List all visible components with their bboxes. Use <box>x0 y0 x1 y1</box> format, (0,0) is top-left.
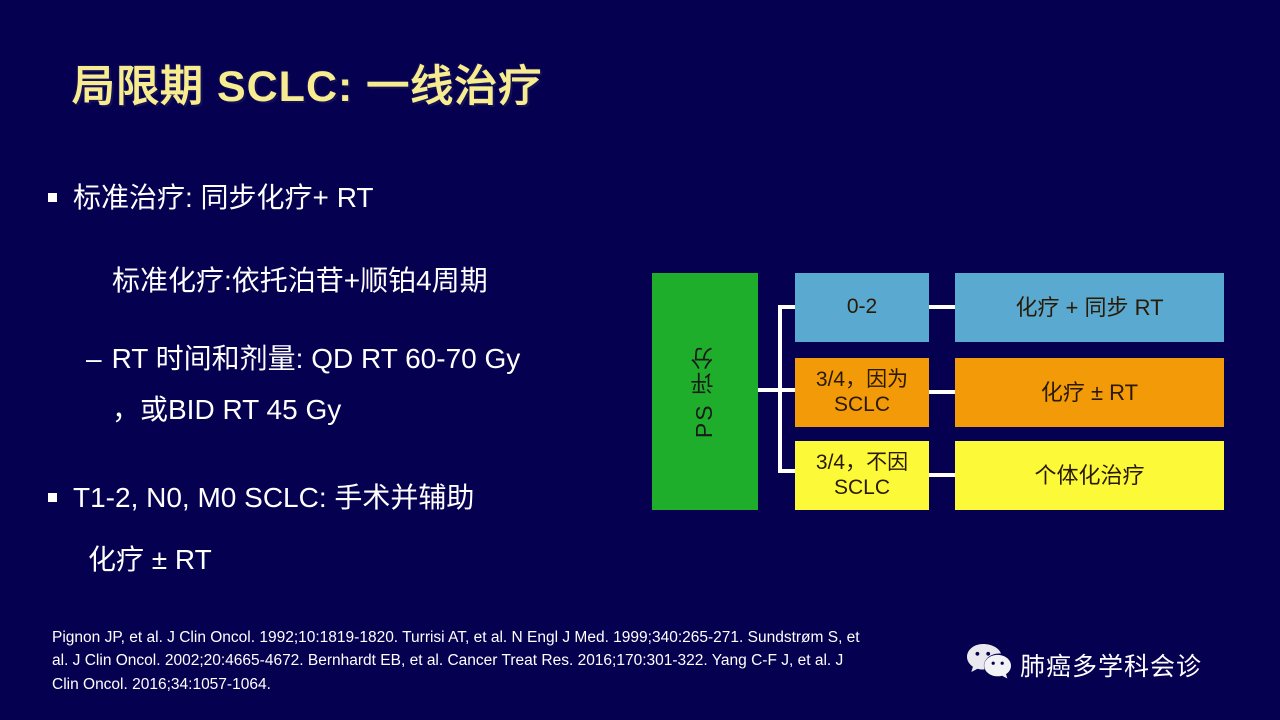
diagram-node-treatment-chemo-pm-rt[interactable]: 化疗 ± RT <box>955 358 1224 427</box>
wechat-icon <box>966 642 1012 687</box>
condition-line-1: 3/4，因为 <box>816 368 908 391</box>
connector-row-2 <box>929 390 956 394</box>
wechat-account-name: 肺癌多学科会诊 <box>1020 647 1202 683</box>
bullet-item-2-label: T1-2, N0, M0 SCLC: 手术并辅助 <box>73 482 474 513</box>
diagram-node-ps-score-label: PS 评分 <box>691 345 718 438</box>
slide-canvas: 局限期 SCLC: 一线治疗 标准治疗: 同步化疗+ RT 标准化疗:依托泊苷+… <box>0 0 1280 720</box>
connector-vertical-spine <box>778 305 782 473</box>
diagram-node-ps-score[interactable]: PS 评分 <box>652 273 758 510</box>
condition-line-2: SCLC <box>834 476 890 499</box>
connector-row-3 <box>929 473 956 477</box>
diagram-node-treatment-individualized[interactable]: 个体化治疗 <box>955 441 1224 510</box>
sub-bullet-1: –RT 时间和剂量: QD RT 60-70 Gy <box>86 341 520 376</box>
sub-bullet-1-label: RT 时间和剂量: QD RT 60-70 Gy <box>112 343 521 374</box>
diagram-node-condition-34-sclc-label: 3/4，因为 SCLC <box>816 368 908 418</box>
bullet-item-2: T1-2, N0, M0 SCLC: 手术并辅助 <box>48 480 474 515</box>
diagram-node-condition-0-2[interactable]: 0-2 <box>795 273 929 342</box>
sub-bullet-1-continuation: ，或BID RT 45 Gy <box>112 392 341 427</box>
connector-root-stem <box>758 388 782 392</box>
diagram-node-condition-34-not-sclc[interactable]: 3/4，不因 SCLC <box>795 441 929 510</box>
diagram-node-treatment-1-label: 化疗 + 同步 RT <box>1015 295 1163 321</box>
bullet-square-icon <box>48 493 57 502</box>
dash-marker-icon: – <box>86 343 102 374</box>
bullet-item-1: 标准治疗: 同步化疗+ RT <box>48 180 374 215</box>
diagram-node-treatment-chemo-concurrent-rt[interactable]: 化疗 + 同步 RT <box>955 273 1224 342</box>
diagram-node-treatment-3-label: 个体化治疗 <box>1034 463 1144 489</box>
bullet-item-1-label: 标准治疗: 同步化疗+ RT <box>73 182 374 213</box>
bullet-item-2-continuation: 化疗 ± RT <box>88 542 212 577</box>
wechat-account-footer: 肺癌多学科会诊 <box>966 642 1202 687</box>
bullet-square-icon <box>48 193 57 202</box>
diagram-node-treatment-2-label: 化疗 ± RT <box>1041 380 1138 406</box>
condition-line-1: 3/4，不因 <box>816 451 908 474</box>
citation-text: Pignon JP, et al. J Clin Oncol. 1992;10:… <box>52 626 862 696</box>
condition-line-2: SCLC <box>834 393 890 416</box>
diagram-node-condition-34-sclc[interactable]: 3/4，因为 SCLC <box>795 358 929 427</box>
bullet-item-1-subline: 标准化疗:依托泊苷+顺铂4周期 <box>112 263 488 298</box>
page-title: 局限期 SCLC: 一线治疗 <box>72 52 542 114</box>
diagram-node-condition-0-2-label: 0-2 <box>847 295 877 320</box>
diagram-node-condition-34-not-sclc-label: 3/4，不因 SCLC <box>816 451 908 501</box>
connector-row-1 <box>929 305 956 309</box>
